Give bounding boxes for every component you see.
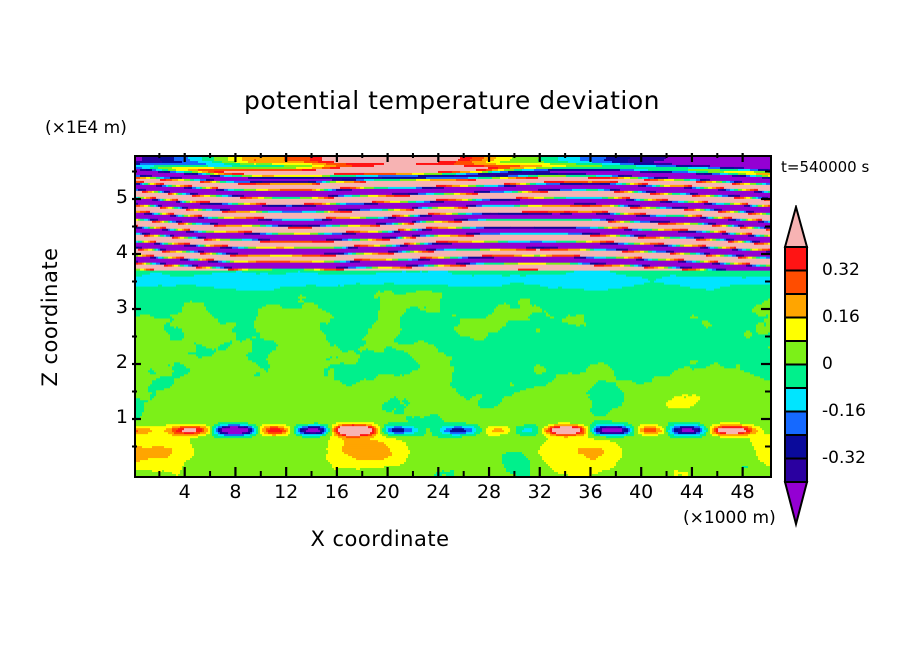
x-tick-label: 16 bbox=[317, 481, 357, 503]
y-tick-label: 1 bbox=[98, 406, 128, 428]
x-tick-label: 36 bbox=[570, 481, 610, 503]
y-tick-label: 3 bbox=[98, 296, 128, 318]
x-tick-label: 8 bbox=[215, 481, 255, 503]
x-tick-label: 12 bbox=[266, 481, 306, 503]
x-tick-label: 44 bbox=[672, 481, 712, 503]
x-tick-label: 24 bbox=[418, 481, 458, 503]
y-tick-label: 4 bbox=[98, 241, 128, 263]
y-tick-label: 2 bbox=[98, 351, 128, 373]
x-tick-label: 28 bbox=[469, 481, 509, 503]
x-tick-label: 32 bbox=[520, 481, 560, 503]
colorbar-tick-label: -0.16 bbox=[822, 401, 866, 421]
chart-title: potential temperature deviation bbox=[0, 86, 904, 115]
y-axis-title: Z coordinate bbox=[38, 207, 62, 427]
colorbar-tick-label: 0.32 bbox=[822, 260, 860, 280]
x-tick-label: 40 bbox=[621, 481, 661, 503]
time-stamp-annotation: t=540000 s bbox=[781, 158, 869, 176]
y-tick-label: 5 bbox=[98, 186, 128, 208]
colorbar-tick-label: 0.16 bbox=[822, 307, 860, 327]
colorbar-tick-label: -0.32 bbox=[822, 448, 866, 468]
x-tick-label: 48 bbox=[723, 481, 763, 503]
x-tick-label: 20 bbox=[368, 481, 408, 503]
x-axis-title: X coordinate bbox=[0, 527, 760, 551]
colorbar bbox=[779, 205, 815, 528]
scalar-field-render bbox=[136, 157, 770, 476]
x-tick-label: 4 bbox=[165, 481, 205, 503]
colorbar-tick-label: 0 bbox=[822, 354, 833, 374]
contour-plot-area bbox=[134, 155, 772, 478]
y-axis-unit-label: (×1E4 m) bbox=[45, 118, 127, 138]
x-axis-unit-label: (×1000 m) bbox=[683, 508, 776, 528]
